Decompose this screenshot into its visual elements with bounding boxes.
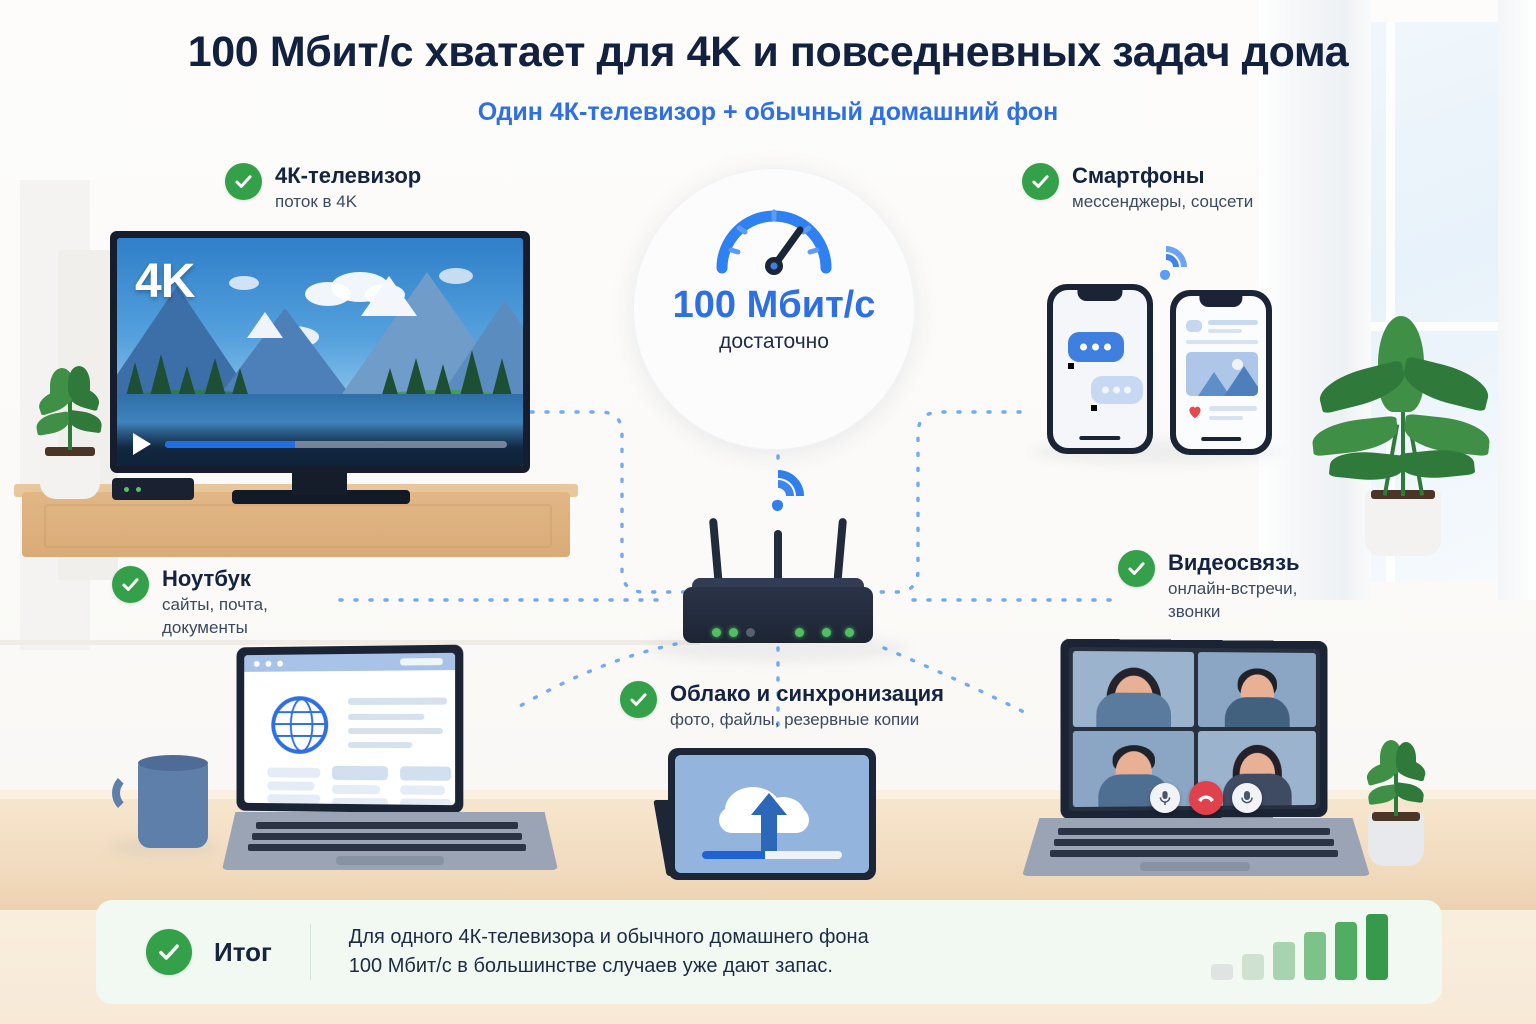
tv-progress-fill (165, 441, 295, 448)
feature-videocall: Видеосвязь онлайн-встречи, звонки (1118, 550, 1300, 624)
signal-bar (1242, 954, 1264, 980)
signal-bar (1335, 922, 1357, 980)
infographic-canvas: 100 Мбит/с хватает для 4K и повседневных… (0, 0, 1536, 1024)
feature-videocall-subtitle: онлайн-встречи, звонки (1168, 578, 1300, 624)
curtain-right (1498, 0, 1536, 600)
laptop-videocall-keyboard (1058, 828, 1330, 835)
router-led (822, 628, 831, 637)
feature-tv: 4К-телевизор поток в 4K (225, 163, 421, 214)
globe-icon (271, 696, 328, 754)
speed-caption: достаточно (719, 330, 829, 354)
coffee-mug (138, 762, 208, 848)
heart-icon (1187, 404, 1203, 419)
end-call-button[interactable] (1189, 781, 1223, 815)
mic-button[interactable] (1150, 783, 1180, 813)
feature-tv-title: 4К-телевизор (275, 163, 421, 188)
tv-neck (292, 473, 347, 495)
speed-badge: 100 Мбит/с достаточно (633, 168, 915, 450)
check-circle-icon (146, 929, 192, 975)
feature-cloud-subtitle: фото, файлы, резервные копии (670, 709, 944, 732)
tv-screen: 4K (117, 238, 523, 466)
router-led (712, 628, 721, 637)
page-title: 100 Мбит/с хватает для 4K и повседневных… (0, 28, 1536, 77)
laptop-browser-lid (237, 645, 464, 814)
participant-tile (1198, 652, 1316, 727)
feature-laptop-subtitle: сайты, почта, документы (162, 594, 268, 640)
chat-bubble-secondary (1091, 376, 1143, 404)
play-icon[interactable] (133, 433, 151, 455)
feature-videocall-title: Видеосвязь (1168, 550, 1300, 575)
feature-smartphones-title: Смартфоны (1072, 163, 1253, 188)
baseboard (0, 640, 700, 645)
check-circle-icon (225, 163, 262, 200)
feature-cloud-title: Облако и синхронизация (670, 681, 944, 706)
check-circle-icon (1118, 550, 1155, 587)
check-circle-icon (112, 566, 149, 603)
set-top-box (112, 478, 194, 500)
laptop-keyboard (256, 822, 518, 829)
feed-photo (1186, 352, 1258, 396)
tv-playback-controls (117, 422, 523, 466)
summary-text: Для одного 4К-телевизора и обычного дома… (349, 923, 869, 981)
smartphone-chat (1047, 284, 1153, 454)
check-circle-icon (620, 681, 657, 718)
router-led (795, 628, 804, 637)
signal-bar (1273, 942, 1295, 980)
signal-strength-bars (1211, 914, 1388, 980)
summary-bar: Итог Для одного 4К-телевизора и обычного… (96, 900, 1442, 1004)
signal-bar (1366, 914, 1388, 980)
summary-label: Итог (214, 937, 272, 968)
television: 4K (110, 231, 530, 473)
feature-tv-subtitle: поток в 4K (275, 191, 421, 214)
router-led (729, 628, 738, 637)
tablet-screen (675, 755, 869, 873)
feature-smartphones-subtitle: мессенджеры, соцсети (1072, 191, 1253, 214)
feature-laptop-title: Ноутбук (162, 566, 268, 591)
chat-bubble-primary (1068, 332, 1124, 362)
curtain-left (1259, 0, 1371, 600)
speed-value: 100 Мбит/с (673, 284, 876, 327)
browser-url-bar[interactable] (400, 658, 443, 666)
page-subtitle: Один 4К-телевизор + обычный домашний фон (0, 98, 1536, 127)
check-circle-icon (1022, 163, 1059, 200)
tv-progress-track[interactable] (165, 441, 507, 448)
tablet (668, 748, 876, 880)
laptop-trackpad (336, 856, 444, 865)
camera-button[interactable] (1232, 783, 1262, 813)
tv-4k-badge: 4K (135, 254, 194, 309)
signal-bar (1304, 932, 1326, 980)
participant-tile (1073, 651, 1194, 727)
speedometer-icon (712, 198, 836, 278)
signal-bar (1211, 964, 1233, 980)
wifi-router (683, 587, 873, 643)
router-led (746, 628, 755, 637)
tablet-upload-progress (702, 851, 842, 859)
feature-smartphones: Смартфоны мессенджеры, соцсети (1022, 163, 1253, 214)
feature-laptop: Ноутбук сайты, почта, документы (112, 566, 268, 640)
browser-window (244, 653, 455, 805)
router-led (845, 628, 854, 637)
feature-cloud: Облако и синхронизация фото, файлы, резе… (620, 681, 944, 732)
smartphone-feed (1170, 290, 1272, 455)
tablet-progress-fill (702, 851, 765, 859)
summary-divider (310, 924, 311, 980)
